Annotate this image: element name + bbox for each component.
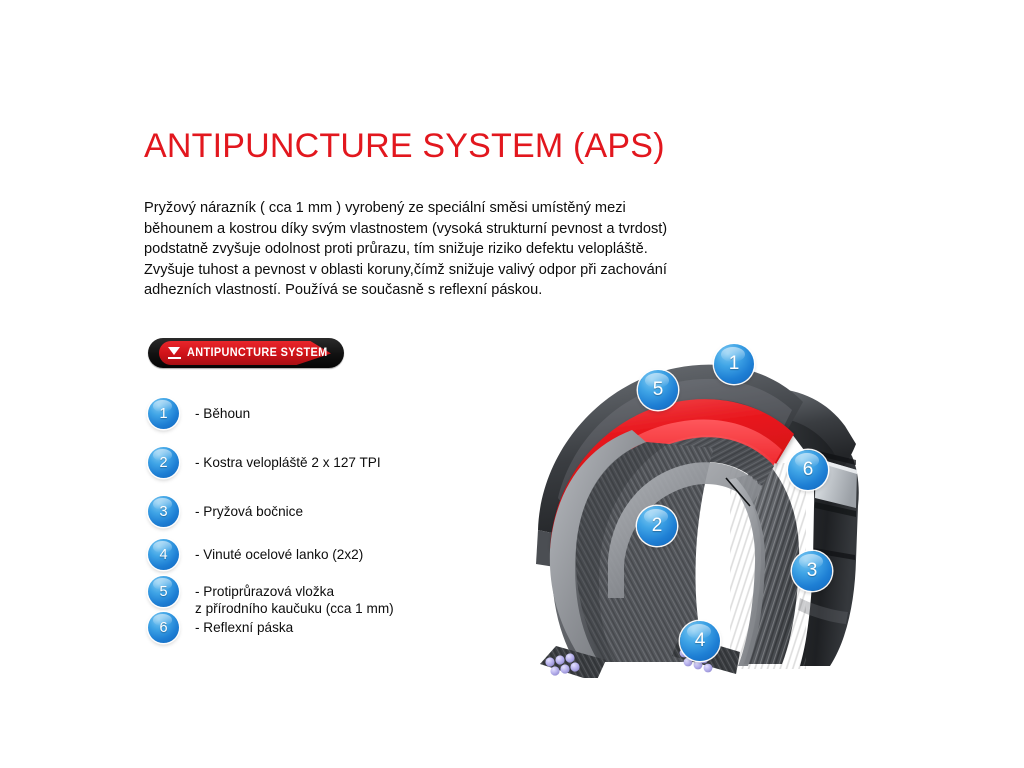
intro-line-1: Pryžový nárazník ( cca 1 mm ) vyrobený z… xyxy=(144,198,770,219)
legend-bubble-number-5: 5 xyxy=(148,576,179,607)
antipuncture-system-badge: ANTIPUNCTURE SYSTEM xyxy=(148,338,344,368)
bicycle-tire-cutaway-diagram: 1 2 3 4 5 6 xyxy=(500,298,900,678)
intro-line-4: Zvyšuje tuhost a pevnost v oblasti korun… xyxy=(144,260,770,281)
funnel-down-arrow-bar-icon xyxy=(168,357,181,360)
legend-bubble-5: 5 xyxy=(148,576,179,607)
legend-bubble-number-4: 4 xyxy=(148,539,179,570)
legend-item-4[interactable]: 4 - Vinuté ocelové lanko (2x2) xyxy=(148,539,363,570)
diagram-bubble-number-3: 3 xyxy=(792,551,832,591)
legend-bubble-number-1: 1 xyxy=(148,398,179,429)
slide-root: ANTIPUNCTURE SYSTEM (APS) Pryžový nárazn… xyxy=(0,0,1024,768)
legend-bubble-number-2: 2 xyxy=(148,447,179,478)
diagram-marker-2[interactable]: 2 xyxy=(637,506,677,546)
legend-bubble-3: 3 xyxy=(148,496,179,527)
intro-paragraph: Pryžový nárazník ( cca 1 mm ) vyrobený z… xyxy=(144,198,770,301)
diagram-bubble-5: 5 xyxy=(638,370,678,410)
diagram-bubble-number-2: 2 xyxy=(637,506,677,546)
diagram-bubble-6: 6 xyxy=(788,450,828,490)
legend-label-5: - Protiprůrazová vložka z přírodního kau… xyxy=(195,576,394,617)
diagram-marker-6[interactable]: 6 xyxy=(788,450,828,490)
diagram-bubble-number-5: 5 xyxy=(638,370,678,410)
diagram-bubble-number-1: 1 xyxy=(714,344,754,384)
legend-item-3[interactable]: 3 - Pryžová bočnice xyxy=(148,496,303,527)
page-title: ANTIPUNCTURE SYSTEM (APS) xyxy=(144,128,665,165)
legend-label-4: - Vinuté ocelové lanko (2x2) xyxy=(195,539,363,563)
legend-label-3: - Pryžová bočnice xyxy=(195,496,303,520)
legend-bubble-number-6: 6 xyxy=(148,612,179,643)
intro-line-3: podstatně zvyšuje odolnost proti průrazu… xyxy=(144,239,770,260)
diagram-marker-3[interactable]: 3 xyxy=(792,551,832,591)
diagram-marker-1[interactable]: 1 xyxy=(714,344,754,384)
diagram-bubble-3: 3 xyxy=(792,551,832,591)
legend-bubble-1: 1 xyxy=(148,398,179,429)
legend-label-1: - Běhoun xyxy=(195,398,250,422)
legend-bubble-2: 2 xyxy=(148,447,179,478)
diagram-bubble-1: 1 xyxy=(714,344,754,384)
legend-label-6: - Reflexní páska xyxy=(195,612,293,636)
legend-bubble-4: 4 xyxy=(148,539,179,570)
diagram-bubble-2: 2 xyxy=(637,506,677,546)
badge-label: ANTIPUNCTURE SYSTEM xyxy=(187,345,328,359)
diagram-marker-4[interactable]: 4 xyxy=(680,621,720,661)
legend-item-6[interactable]: 6 - Reflexní páska xyxy=(148,612,293,643)
legend-label-2: - Kostra velopláště 2 x 127 TPI xyxy=(195,447,381,471)
legend-item-5[interactable]: 5 - Protiprůrazová vložka z přírodního k… xyxy=(148,576,394,617)
legend-item-2[interactable]: 2 - Kostra velopláště 2 x 127 TPI xyxy=(148,447,381,478)
diagram-bubble-4: 4 xyxy=(680,621,720,661)
diagram-bubble-number-6: 6 xyxy=(788,450,828,490)
diagram-bubble-number-4: 4 xyxy=(680,621,720,661)
legend-bubble-6: 6 xyxy=(148,612,179,643)
funnel-down-arrow-icon xyxy=(168,347,180,355)
intro-line-2: běhounem a kostrou díky svým vlastnostem… xyxy=(144,219,770,240)
legend-item-1[interactable]: 1 - Běhoun xyxy=(148,398,250,429)
diagram-marker-5[interactable]: 5 xyxy=(638,370,678,410)
tire-casing-group xyxy=(550,430,806,669)
legend-bubble-number-3: 3 xyxy=(148,496,179,527)
